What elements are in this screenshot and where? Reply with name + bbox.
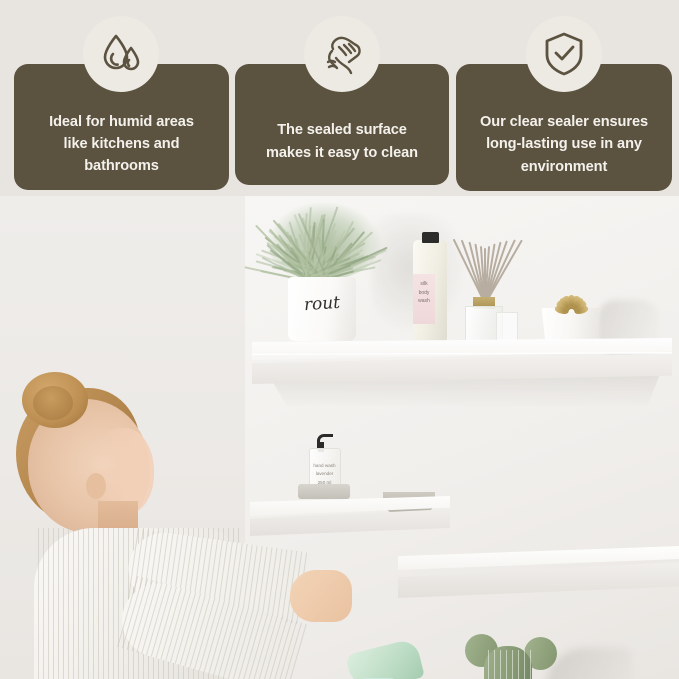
cactus-body — [484, 646, 532, 679]
feature-card-text: The sealed surface makes it easy to clea… — [266, 119, 418, 163]
feature-card-text: Our clear sealer ensures long-lasting us… — [480, 111, 648, 178]
lifestyle-photo-scene: rout silk body wash hand wash lavender 2… — [0, 196, 679, 679]
reed-diffuser-sticks — [448, 234, 528, 304]
greenery-fronds — [266, 204, 382, 284]
child-ear — [86, 473, 106, 499]
hand-wiping-cloth-icon — [304, 16, 380, 92]
shield-check-icon — [526, 16, 602, 92]
feature-cards-row: Ideal for humid areas like kitchens and … — [0, 0, 679, 200]
child-hair-bun-inner — [33, 386, 73, 420]
lower-floating-shelf — [398, 546, 679, 598]
amenity-bottle-cap — [422, 232, 439, 243]
feature-card-text: Ideal for humid areas like kitchens and … — [49, 111, 194, 178]
upper-floating-shelf — [252, 338, 672, 384]
middle-floating-shelf — [250, 496, 450, 536]
plant-pot-script-text: rout — [291, 292, 352, 316]
product-infographic: Ideal for humid areas like kitchens and … — [0, 0, 679, 679]
amenity-bottle-label-text: silk body wash — [414, 280, 434, 306]
child-hand-on-trigger — [290, 570, 352, 622]
water-droplets-icon — [83, 16, 159, 92]
